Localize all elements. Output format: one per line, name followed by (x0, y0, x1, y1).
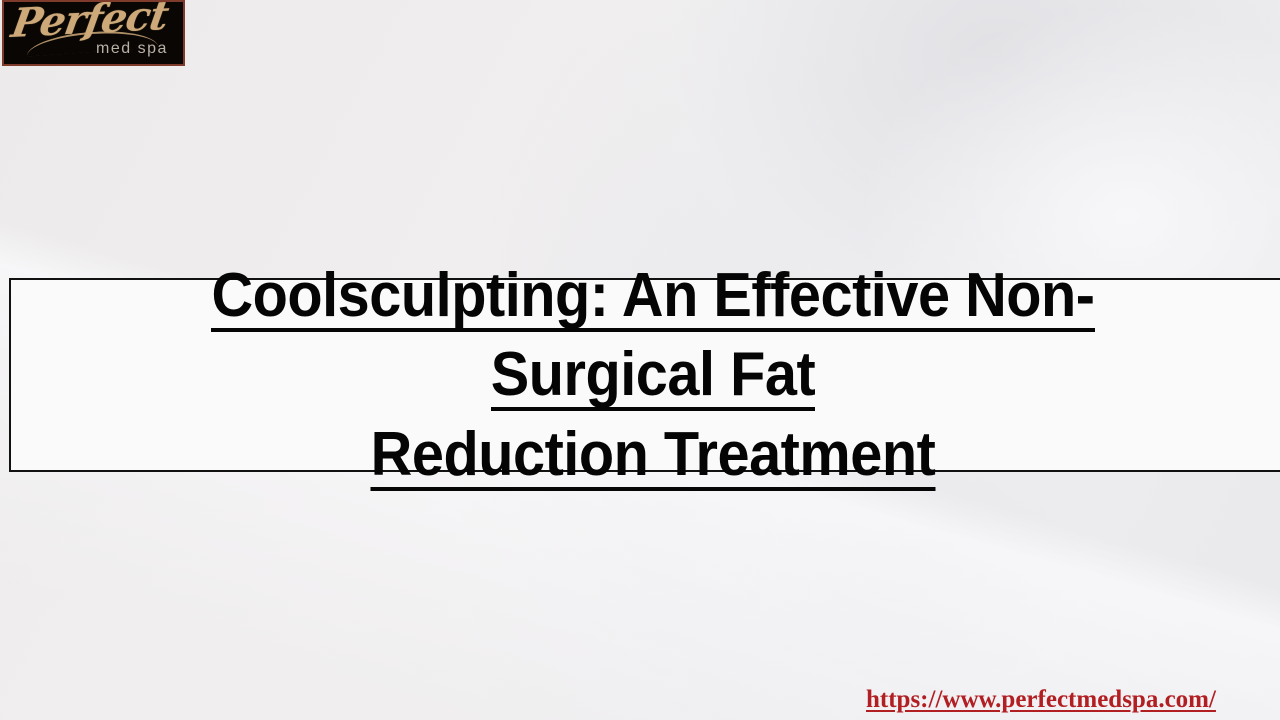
page-title: Coolsculpting: An Effective Non-Surgical… (104, 256, 1201, 494)
page-title-line-2: Reduction Treatment (371, 420, 936, 491)
page-title-line-1: Coolsculpting: An Effective Non-Surgical… (211, 261, 1094, 411)
brand-logo[interactable]: Perfect med spa (2, 0, 185, 66)
brand-logo-subtitle: med spa (96, 40, 168, 58)
website-url-link[interactable]: https://www.perfectmedspa.com/ (866, 686, 1216, 714)
title-panel: Coolsculpting: An Effective Non-Surgical… (9, 278, 1280, 472)
presentation-slide: Perfect med spa Coolsculpting: An Effect… (0, 0, 1280, 720)
